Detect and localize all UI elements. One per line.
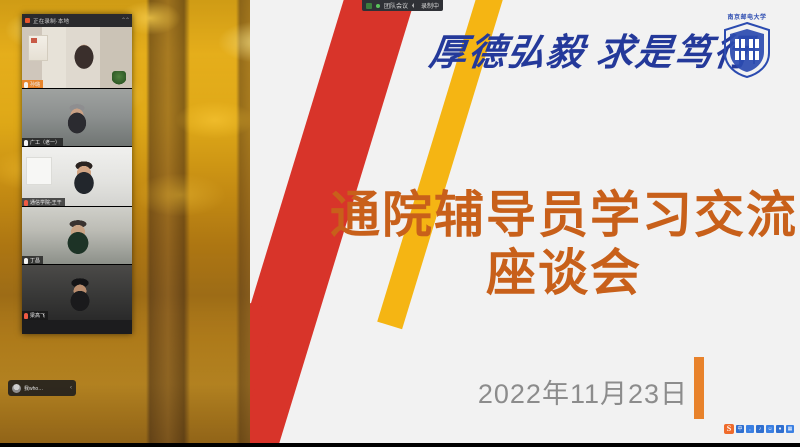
meeting-status-label-2: 录制中 <box>421 1 439 10</box>
orange-accent-bar <box>694 357 704 419</box>
title-line-2: 座谈会 <box>328 244 800 302</box>
participant-tile[interactable]: 孙璐 <box>22 27 132 89</box>
presentation-slide: 厚德弘毅 求是笃行 南京邮电大学 通院辅导员学习交流 座谈会 2022年11月2… <box>250 0 800 447</box>
participant-tile[interactable]: 梁高飞 <box>22 265 132 320</box>
ime-punctuation-icon[interactable]: , <box>746 425 754 433</box>
record-icon <box>412 3 417 8</box>
microphone-icon <box>24 258 28 264</box>
participant-tile[interactable]: 通信学院-王干 <box>22 147 132 207</box>
shield-icon <box>722 21 772 79</box>
university-motto-calligraphy: 厚德弘毅 求是笃行 <box>427 22 757 76</box>
participant-name: 孙璐 <box>30 81 40 88</box>
participant-name: 通信学院-王干 <box>30 199 62 206</box>
record-dot-icon <box>25 18 30 23</box>
meeting-status-bar[interactable]: 团队会议 录制中 <box>362 0 443 11</box>
chevron-collapse-icon[interactable]: ⌃⌃ <box>121 17 129 24</box>
participant-name: 广工（老一） <box>30 139 60 146</box>
slide-date: 2022年11月23日 <box>478 372 688 411</box>
sogou-logo-icon[interactable]: S <box>724 424 734 434</box>
meeting-status-label-1: 团队会议 <box>384 1 408 10</box>
microphone-icon <box>24 313 28 319</box>
ime-skin-icon[interactable]: ♦ <box>776 425 784 433</box>
microphone-icon <box>24 82 28 88</box>
page-title: 通院辅导员学习交流 座谈会 <box>328 186 800 302</box>
participant-tile[interactable]: 广工（老一） <box>22 89 132 147</box>
title-line-1: 通院辅导员学习交流 <box>330 187 798 243</box>
screenshot-root: 厚德弘毅 求是笃行 南京邮电大学 通院辅导员学习交流 座谈会 2022年11月2… <box>0 0 800 447</box>
camera-icon <box>366 3 372 9</box>
background-whiteboard <box>26 157 52 185</box>
chat-message-bar[interactable]: 我who… ‹ <box>8 380 76 396</box>
ime-language-toggle-icon[interactable]: 中 <box>736 425 744 433</box>
microphone-icon <box>24 200 28 206</box>
bottom-letterbox <box>0 443 800 447</box>
ime-emoji-icon[interactable]: ☺ <box>766 425 774 433</box>
microphone-icon <box>24 140 28 146</box>
participant-name: 丁昌 <box>30 257 40 264</box>
university-crest-logo: 南京邮电大学 <box>716 12 778 86</box>
background-plant <box>112 71 126 85</box>
participant-tile[interactable]: 丁昌 <box>22 207 132 265</box>
status-dot-icon <box>376 4 380 8</box>
video-conference-window[interactable]: 正在录制·本地 ⌃⌃ 孙璐 广工（老一） 通信学院-王干 <box>22 14 132 334</box>
chevron-left-icon[interactable]: ‹ <box>70 385 72 391</box>
crest-university-name: 南京邮电大学 <box>716 12 778 21</box>
participant-name-bar: 梁高飞 <box>22 311 48 320</box>
participant-name: 梁高飞 <box>30 312 45 319</box>
ime-voice-input-icon[interactable]: ♪ <box>756 425 764 433</box>
sogou-ime-toolbar[interactable]: S 中 , ♪ ☺ ♦ ▦ <box>722 422 796 435</box>
ime-toolbox-icon[interactable]: ▦ <box>786 425 794 433</box>
avatar <box>12 384 21 393</box>
chat-message-text: 我who… <box>24 385 67 392</box>
video-window-title: 正在录制·本地 <box>33 17 118 25</box>
background-shelf <box>28 35 48 61</box>
video-window-header[interactable]: 正在录制·本地 ⌃⌃ <box>22 14 132 27</box>
